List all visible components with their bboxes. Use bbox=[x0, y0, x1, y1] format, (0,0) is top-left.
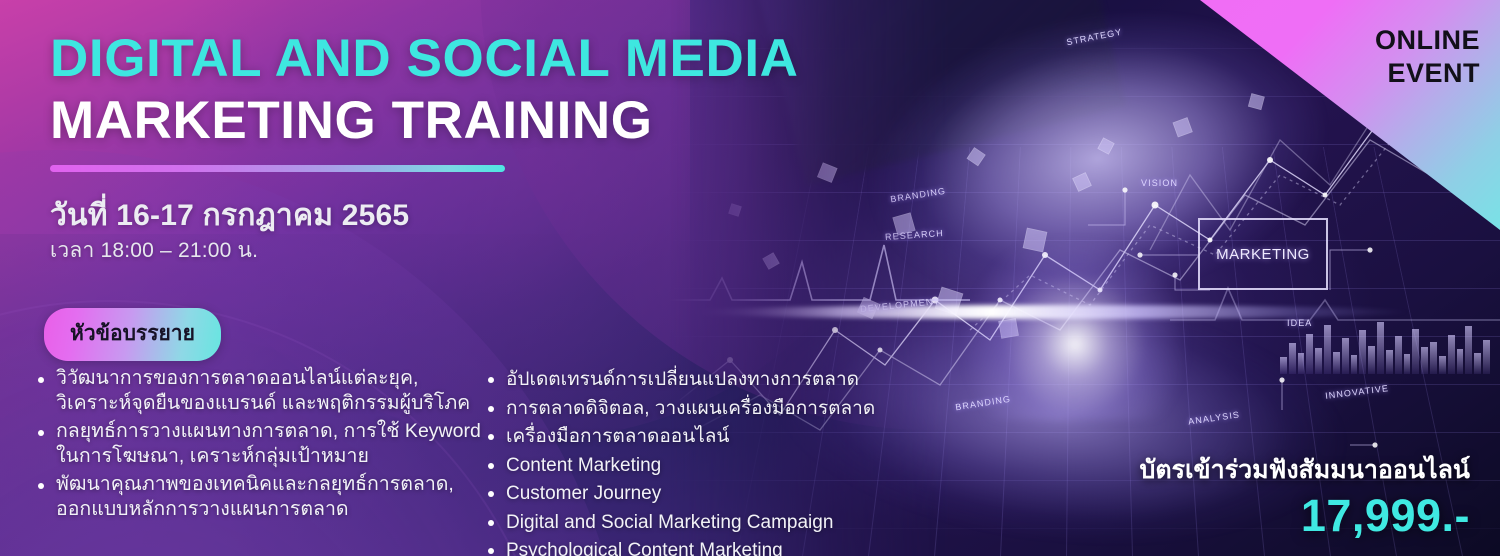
topics-column-right: อัปเดตเทรนด์การเปลี่ยนแปลงทางการตลาด การ… bbox=[486, 366, 906, 556]
list-item: การตลาดดิจิตอล, วางแผนเครื่องมือการตลาด bbox=[486, 395, 906, 423]
topics-list-right: อัปเดตเทรนด์การเปลี่ยนแปลงทางการตลาด การ… bbox=[486, 366, 906, 556]
title-line-1: DIGITAL AND SOCIAL MEDIA bbox=[50, 32, 799, 85]
list-item: Customer Journey bbox=[486, 480, 906, 508]
list-item: อัปเดตเทรนด์การเปลี่ยนแปลงทางการตลาด bbox=[486, 366, 906, 394]
price-value: 17,999.- bbox=[1301, 490, 1470, 542]
list-item: พัฒนาคุณภาพของเทคนิคและกลยุทธ์การตลาด, อ… bbox=[36, 472, 484, 522]
list-item: Digital and Social Marketing Campaign bbox=[486, 509, 906, 537]
list-item: กลยุทธ์การวางแผนทางการตลาด, การใช้ Keywo… bbox=[36, 419, 484, 469]
list-item: Psychological Content Marketing bbox=[486, 537, 906, 556]
event-date: วันที่ 16-17 กรกฎาคม 2565 bbox=[50, 192, 409, 239]
topics-column-left: วิวัฒนาการของการตลาดออนไลน์แต่ละยุค, วิเ… bbox=[36, 366, 484, 525]
list-item: เครื่องมือการตลาดออนไลน์ bbox=[486, 423, 906, 451]
event-time: เวลา 18:00 – 21:00 น. bbox=[50, 234, 258, 267]
topics-list-left: วิวัฒนาการของการตลาดออนไลน์แต่ละยุค, วิเ… bbox=[36, 366, 484, 522]
title-line-2: MARKETING TRAINING bbox=[50, 94, 653, 147]
title-underline-rule bbox=[50, 165, 505, 172]
promo-banner: MARKETING STRATEGY VISION BRANDING RESEA… bbox=[0, 0, 1500, 556]
list-item: Content Marketing bbox=[486, 452, 906, 480]
banner-content: DIGITAL AND SOCIAL MEDIA MARKETING TRAIN… bbox=[0, 0, 1500, 556]
price-label: บัตรเข้าร่วมฟังสัมมนาออนไลน์ bbox=[1139, 450, 1470, 490]
topics-pill-badge: หัวข้อบรรยาย bbox=[44, 308, 221, 361]
list-item: วิวัฒนาการของการตลาดออนไลน์แต่ละยุค, วิเ… bbox=[36, 366, 484, 416]
